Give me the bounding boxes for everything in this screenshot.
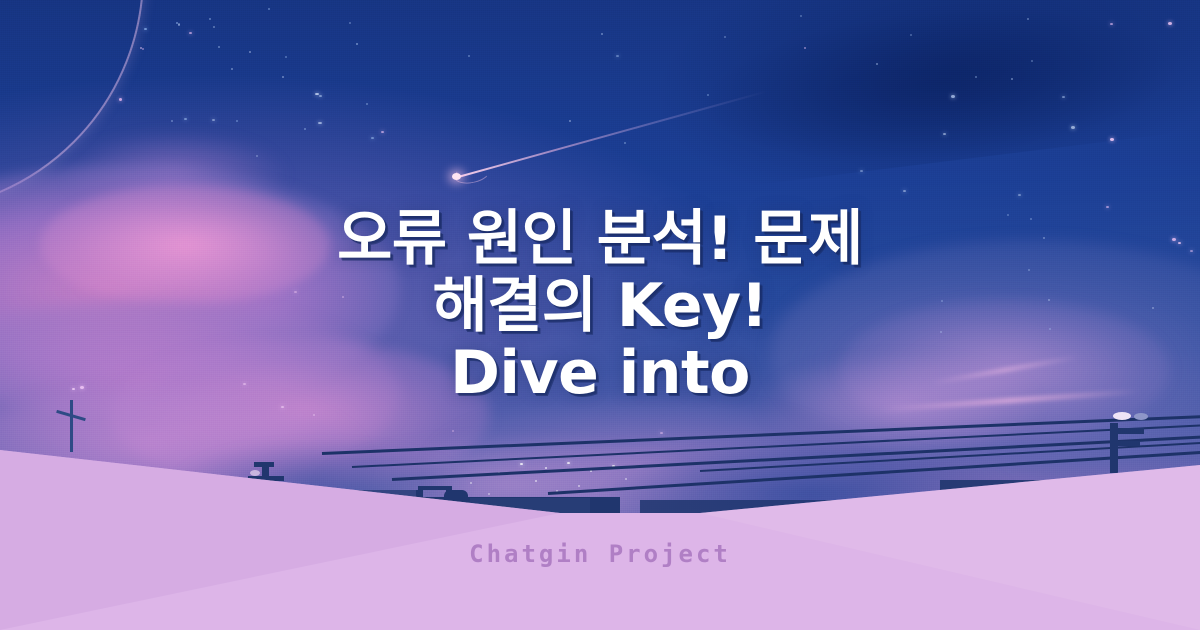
headline-line-1: 오류 원인 분석! 문제 bbox=[0, 206, 1200, 273]
page-title: 오류 원인 분석! 문제 해결의 Key! Dive into bbox=[0, 206, 1200, 407]
headline-line-2: 해결의 Key! bbox=[0, 273, 1200, 340]
headline-line-3: Dive into bbox=[0, 340, 1200, 407]
banner-root: 오류 원인 분석! 문제 해결의 Key! Dive into Chatgin … bbox=[0, 0, 1200, 630]
brand-label: Chatgin Project bbox=[0, 540, 1200, 568]
